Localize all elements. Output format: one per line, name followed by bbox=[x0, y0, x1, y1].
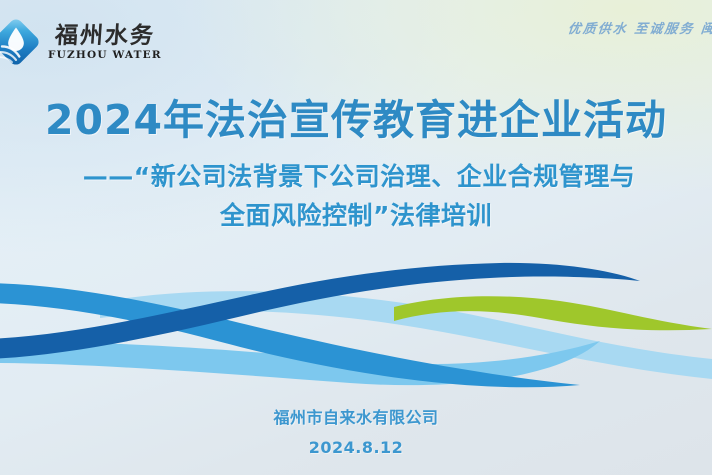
slide-footer: 福州市自来水有限公司 2024.8.12 bbox=[0, 404, 712, 457]
logo-chinese-name: 福州水务 bbox=[54, 24, 156, 47]
logo-english-name: FUZHOU WATER bbox=[48, 50, 162, 61]
presentation-slide: 福州水务 FUZHOU WATER 优质供水 至诚服务 闽 2024年法治宣传教… bbox=[0, 0, 712, 475]
subtitle-line-1: ——“新公司法背景下公司治理、企业合规管理与 bbox=[0, 158, 712, 197]
logo-wordmark: 福州水务 FUZHOU WATER bbox=[48, 24, 162, 61]
event-date: 2024.8.12 bbox=[0, 438, 712, 457]
subtitle-line-2: 全面风险控制”法律培训 bbox=[0, 197, 712, 236]
corporate-slogan: 优质供水 至诚服务 闽 bbox=[567, 18, 712, 37]
subtitle: ——“新公司法背景下公司治理、企业合规管理与 全面风险控制”法律培训 bbox=[0, 158, 712, 236]
slide-header: 福州水务 FUZHOU WATER 优质供水 至诚服务 闽 bbox=[0, 0, 712, 86]
wave-decoration bbox=[0, 255, 712, 395]
water-drop-diamond-logo-icon bbox=[0, 14, 44, 70]
fuzhou-water-logo: 福州水务 FUZHOU WATER bbox=[2, 14, 162, 70]
title-zone: 2024年法治宣传教育进企业活动 ——“新公司法背景下公司治理、企业合规管理与 … bbox=[0, 96, 712, 236]
organization-name: 福州市自来水有限公司 bbox=[0, 404, 712, 428]
main-title: 2024年法治宣传教育进企业活动 bbox=[0, 96, 712, 144]
